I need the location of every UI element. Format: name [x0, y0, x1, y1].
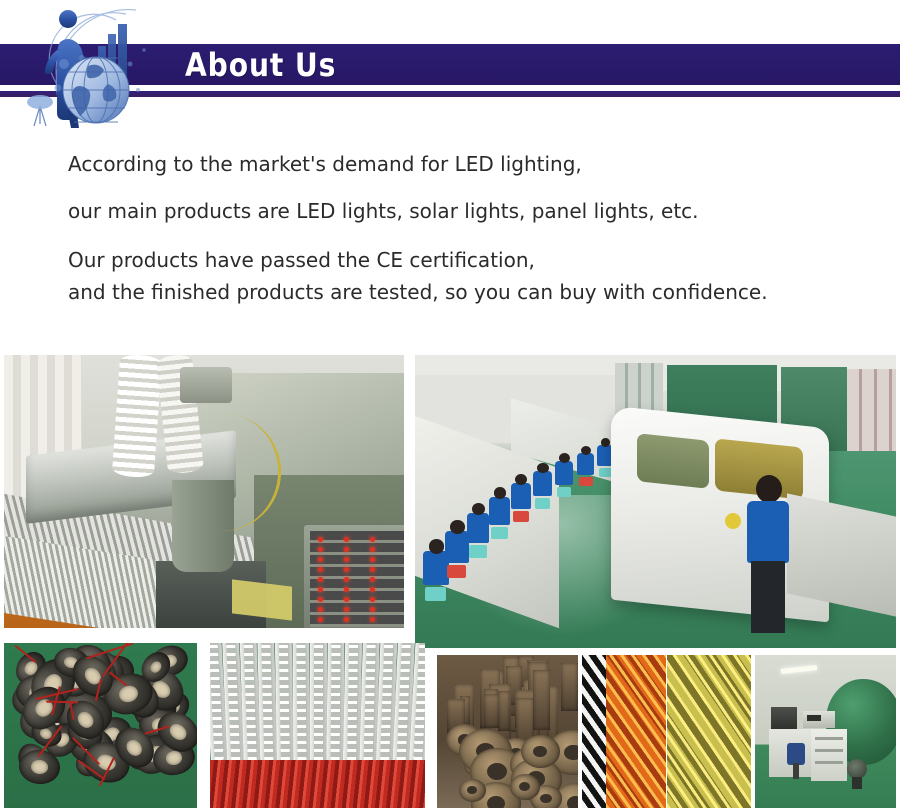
reflow-oven-production-line-photo: SMT reflow oven with exhaust ducts and P… [4, 355, 404, 628]
led-rigid-bars-photo: Rows of aluminium LED rigid bars with re… [210, 643, 425, 808]
testing-lab-photo: Testing laboratory with desk, computer, … [755, 655, 896, 808]
assembly-line-workers-photo: Factory assembly line with workers in bl… [415, 355, 896, 648]
led-strip-reels-pile-photo: Pile of black LED strip reels with red w… [4, 643, 197, 808]
yellow-led-strips-photo: Diagonal yellow glowing LED strips on ag… [667, 655, 751, 808]
factory-photo-gallery: SMT reflow oven with exhaust ducts and P… [0, 0, 900, 808]
about-us-page: About Us According to the market's deman… [0, 0, 900, 808]
orange-led-strips-photo: Diagonal orange glowing LED strips on ag… [582, 655, 666, 808]
reel-warehouse-stock-photo: Warehouse stacks of LED strip reels [437, 655, 578, 808]
